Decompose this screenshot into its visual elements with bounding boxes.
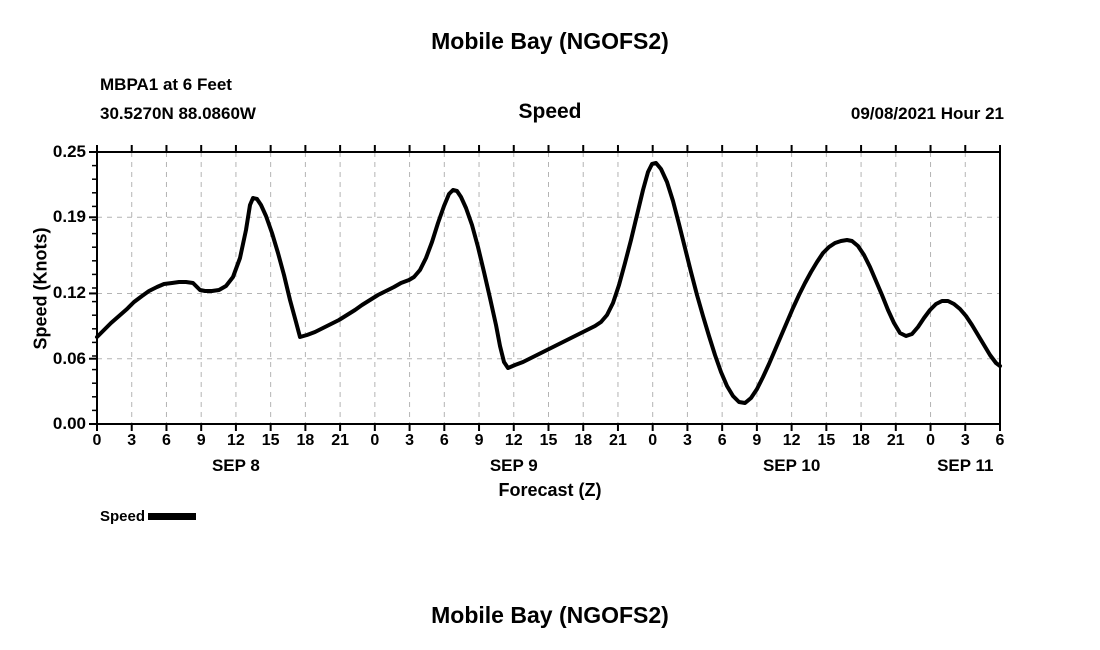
x-tick-label: 0: [360, 432, 390, 450]
day-label: SEP 8: [176, 456, 296, 476]
legend-line-swatch: [148, 513, 196, 520]
x-tick-label: 3: [672, 432, 702, 450]
x-tick-label: 21: [325, 432, 355, 450]
footer-title: Mobile Bay (NGOFS2): [0, 602, 1100, 629]
x-tick-label: 15: [256, 432, 286, 450]
x-tick-label: 9: [464, 432, 494, 450]
chart-figure: Mobile Bay (NGOFS2) MBPA1 at 6 Feet 30.5…: [0, 0, 1100, 650]
x-tick-label: 6: [429, 432, 459, 450]
y-tick-label: 0.06: [24, 349, 86, 369]
legend: Speed: [100, 508, 196, 525]
x-tick-label: 12: [499, 432, 529, 450]
day-label: SEP 9: [454, 456, 574, 476]
day-label: SEP 11: [905, 456, 1025, 476]
x-tick-label: 9: [742, 432, 772, 450]
legend-label: Speed: [100, 508, 145, 525]
x-tick-label: 0: [82, 432, 112, 450]
x-tick-label: 21: [603, 432, 633, 450]
x-tick-label: 18: [568, 432, 598, 450]
x-tick-label: 12: [777, 432, 807, 450]
x-tick-label: 9: [186, 432, 216, 450]
x-tick-label: 3: [950, 432, 980, 450]
gridlines: [97, 152, 1000, 424]
x-tick-label: 18: [290, 432, 320, 450]
x-tick-label: 6: [985, 432, 1015, 450]
y-tick-label: 0.19: [24, 207, 86, 227]
x-tick-label: 6: [707, 432, 737, 450]
y-tick-label: 0.25: [24, 142, 86, 162]
x-tick-label: 15: [534, 432, 564, 450]
x-tick-label: 6: [151, 432, 181, 450]
x-tick-label: 3: [117, 432, 147, 450]
x-tick-label: 12: [221, 432, 251, 450]
y-tick-label: 0.12: [24, 283, 86, 303]
x-tick-label: 0: [638, 432, 668, 450]
day-label: SEP 10: [732, 456, 852, 476]
y-tick-label: 0.00: [24, 414, 86, 434]
x-tick-label: 18: [846, 432, 876, 450]
x-tick-label: 21: [881, 432, 911, 450]
x-tick-label: 15: [811, 432, 841, 450]
plot-canvas: [0, 0, 1100, 650]
x-tick-label: 0: [916, 432, 946, 450]
x-tick-label: 3: [395, 432, 425, 450]
